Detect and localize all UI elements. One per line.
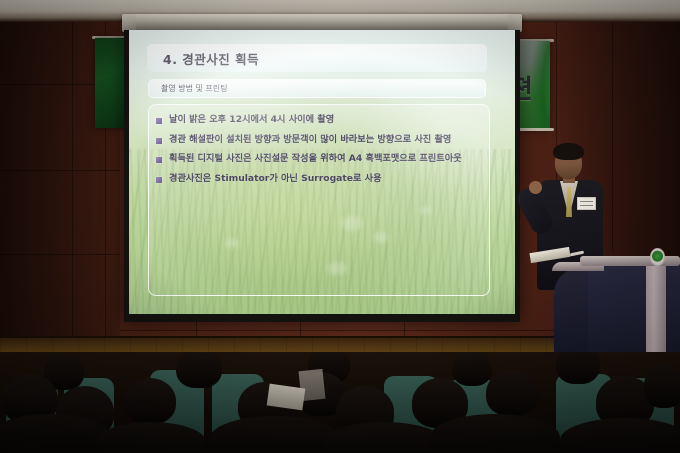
bullet-text: 획득된 디지털 사진은 사진설문 작성을 위하여 A4 흑백포맷으로 프린트아웃	[169, 153, 462, 166]
wall-panel-seam	[0, 170, 120, 171]
audience-handout	[298, 369, 325, 401]
bullet-text: 날이 밝은 오후 12시에서 4시 사이에 촬영	[169, 114, 334, 127]
projection-screen: 4. 경관사진 획득 촬영 방법 및 프린팅 날이 밝은 오후 12시에서 4시…	[129, 30, 515, 314]
bullet-marker-icon	[156, 138, 162, 144]
slide-title: 4. 경관사진 획득	[163, 49, 259, 68]
podium-body	[588, 262, 680, 360]
bullet-item: 경관사진은 Stimulator가 아닌 Surrogate로 사용	[156, 173, 486, 186]
audience-shoulders	[430, 414, 560, 453]
audience-shoulders	[210, 416, 340, 453]
audience-head	[124, 378, 176, 424]
presentation-scene-photo: 젼 4. 경관사진 획득 촬영 방법 및 프린팅 날이 밝은 오후 12시에서 …	[0, 0, 680, 453]
bullet-item: 경관 해설판이 설치된 방향과 방문객이 많이 바라보는 방향으로 사진 촬영	[156, 134, 486, 147]
speaker-name-badge	[577, 197, 596, 210]
slide-bullet-list: 날이 밝은 오후 12시에서 4시 사이에 촬영 경관 해설판이 설치된 방향과…	[156, 114, 486, 192]
slide-title-band: 4. 경관사진 획득	[147, 44, 487, 72]
speaker-hair	[553, 143, 584, 160]
wall-panel-seam	[72, 22, 73, 338]
wall-panel-seam	[120, 330, 560, 331]
podium-emblem-icon	[650, 248, 665, 266]
audience-head	[452, 352, 492, 386]
audience-head	[486, 370, 538, 416]
bullet-marker-icon	[156, 157, 162, 163]
slide-subtitle-box: 촬영 방법 및 프린팅	[148, 79, 486, 98]
audience-head	[644, 364, 680, 408]
bullet-item: 날이 밝은 오후 12시에서 4시 사이에 촬영	[156, 114, 486, 127]
audience-head	[556, 352, 600, 384]
slide-content: 4. 경관사진 획득 촬영 방법 및 프린팅 날이 밝은 오후 12시에서 4시…	[129, 30, 515, 314]
audience-head	[176, 352, 222, 388]
bullet-text: 경관 해설판이 설치된 방향과 방문객이 많이 바라보는 방향으로 사진 촬영	[169, 134, 451, 147]
audience-area	[0, 352, 680, 453]
bullet-marker-icon	[156, 177, 162, 183]
wall-panel-seam	[0, 254, 120, 255]
bullet-marker-icon	[156, 118, 162, 124]
bullet-item: 획득된 디지털 사진은 사진설문 작성을 위하여 A4 흑백포맷으로 프린트아웃	[156, 153, 486, 166]
podium-accent-strip	[646, 262, 666, 360]
slide-subtitle: 촬영 방법 및 프린팅	[161, 83, 228, 94]
projector-screen-housing	[122, 14, 522, 30]
podium-desk-top	[580, 256, 680, 266]
bullet-text: 경관사진은 Stimulator가 아닌 Surrogate로 사용	[169, 173, 382, 186]
speaker-hand	[529, 181, 542, 194]
